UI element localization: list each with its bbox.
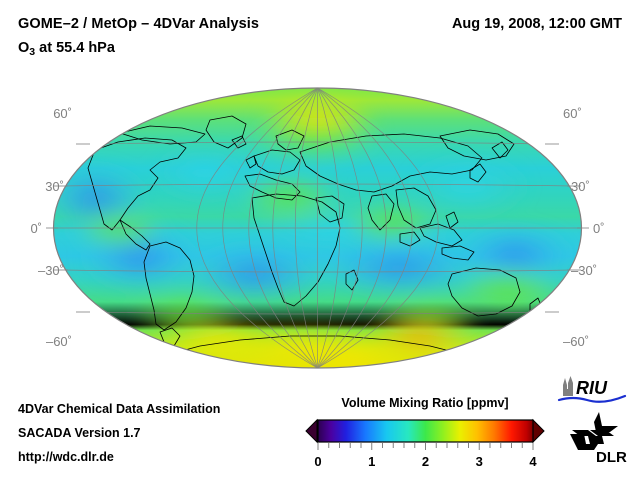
lat-label-30n: 30˚ xyxy=(45,179,64,194)
visualization-page: GOME–2 / MetOp – 4DVar Analysis O3 at 55… xyxy=(0,0,640,480)
subtitle-subscript: 3 xyxy=(29,46,35,58)
footer-line-version: SACADA Version 1.7 xyxy=(18,426,141,440)
dlr-logo: DLR xyxy=(566,410,632,466)
subtitle-level: at 55.4 hPa xyxy=(35,40,115,56)
lat-label-30s: –30˚ xyxy=(38,263,64,278)
dlr-logo-text: DLR xyxy=(596,449,627,466)
lat-label-30s-right: –30˚ xyxy=(571,263,597,278)
lat-label-60n: 60˚ xyxy=(53,106,72,121)
page-subtitle: O3 at 55.4 hPa xyxy=(18,40,115,56)
page-title: GOME–2 / MetOp – 4DVar Analysis xyxy=(18,16,259,32)
colorbar-title: Volume Mixing Ratio [ppmv] xyxy=(305,396,545,410)
lat-label-60s-right: –60˚ xyxy=(563,334,589,349)
lat-label-0: 0˚ xyxy=(30,221,42,236)
dlr-mark-icon xyxy=(570,412,618,450)
lat-label-0-right: 0˚ xyxy=(593,221,605,236)
colorbar-tick-0: 0 xyxy=(314,454,321,469)
map-panel: 60˚ 30˚ 0˚ –30˚ –60˚ 60˚ 30˚ 0˚ –30˚ –60… xyxy=(0,78,640,378)
colorbar-extend-low xyxy=(306,420,317,442)
subtitle-species: O xyxy=(18,40,29,56)
colorbar: 0 1 2 3 4 xyxy=(305,416,545,474)
timestamp-label: Aug 19, 2008, 12:00 GMT xyxy=(452,16,622,32)
colorbar-extend-high xyxy=(533,420,544,442)
riu-logo: RIU xyxy=(557,374,629,406)
lat-label-60s: –60˚ xyxy=(46,334,72,349)
colorbar-gradient xyxy=(318,420,533,442)
lat-label-30n-right: 30˚ xyxy=(571,179,590,194)
riu-logo-text: RIU xyxy=(576,378,608,398)
colorbar-tick-1: 1 xyxy=(368,454,375,469)
colorbar-tick-4: 4 xyxy=(529,454,537,469)
colorbar-minor-ticks xyxy=(318,443,533,450)
cathedral-spires-icon xyxy=(563,376,573,396)
colorbar-panel: Volume Mixing Ratio [ppmv] xyxy=(305,396,545,474)
colorbar-tick-2: 2 xyxy=(422,454,429,469)
footer-line-url[interactable]: http://wdc.dlr.de xyxy=(18,450,114,464)
footer-line-method: 4DVar Chemical Data Assimilation xyxy=(18,402,220,416)
lat-label-60n-right: 60˚ xyxy=(563,106,582,121)
colorbar-tick-3: 3 xyxy=(476,454,483,469)
ozone-field xyxy=(40,86,585,378)
mollweide-map: 60˚ 30˚ 0˚ –30˚ –60˚ 60˚ 30˚ 0˚ –30˚ –60… xyxy=(0,78,640,378)
